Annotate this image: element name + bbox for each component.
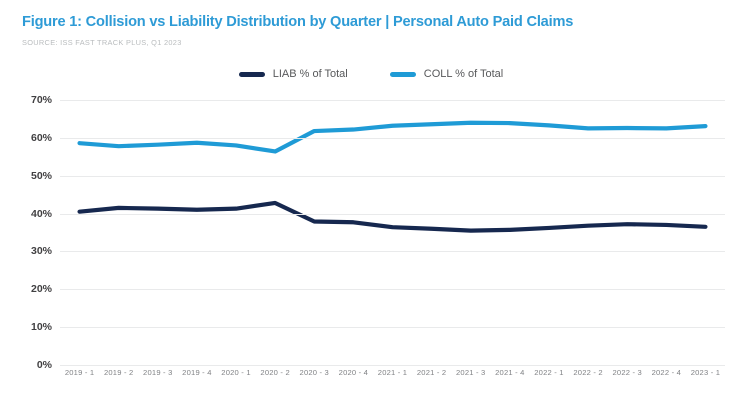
x-axis-tick-label: 2022 - 2 bbox=[573, 368, 602, 377]
y-axis-tick-label: 60% bbox=[31, 132, 52, 144]
x-axis-tick-label: 2021 - 3 bbox=[456, 368, 485, 377]
legend-label-liab: LIAB % of Total bbox=[273, 68, 348, 80]
gridline bbox=[60, 289, 725, 290]
legend-item-coll[interactable]: COLL % of Total bbox=[390, 68, 504, 80]
x-axis-tick-label: 2022 - 1 bbox=[534, 368, 563, 377]
legend-label-coll: COLL % of Total bbox=[424, 68, 504, 80]
chart-source-note: SOURCE: ISS FAST TRACK PLUS, Q1 2023 bbox=[22, 38, 182, 47]
x-axis-tick-label: 2019 - 3 bbox=[143, 368, 172, 377]
y-axis-tick-label: 50% bbox=[31, 170, 52, 182]
x-axis-tick-label: 2019 - 1 bbox=[65, 368, 94, 377]
x-axis-tick-label: 2021 - 1 bbox=[378, 368, 407, 377]
gridline bbox=[60, 327, 725, 328]
x-axis-tick-label: 2020 - 4 bbox=[339, 368, 368, 377]
x-axis-tick-label: 2019 - 2 bbox=[104, 368, 133, 377]
gridline bbox=[60, 176, 725, 177]
chart-legend: LIAB % of Total COLL % of Total bbox=[0, 68, 742, 80]
y-axis-tick-label: 40% bbox=[31, 208, 52, 220]
chart-lines bbox=[60, 100, 725, 365]
gridline bbox=[60, 100, 725, 101]
gridline bbox=[60, 251, 725, 252]
x-axis-tick-label: 2023 - 1 bbox=[691, 368, 720, 377]
legend-item-liab[interactable]: LIAB % of Total bbox=[239, 68, 348, 80]
legend-swatch-coll bbox=[390, 72, 416, 77]
chart-title: Figure 1: Collision vs Liability Distrib… bbox=[22, 14, 573, 30]
y-axis-tick-label: 70% bbox=[31, 94, 52, 106]
x-axis-tick-label: 2022 - 3 bbox=[612, 368, 641, 377]
x-axis-tick-label: 2019 - 4 bbox=[182, 368, 211, 377]
x-axis-tick-label: 2020 - 1 bbox=[221, 368, 250, 377]
plot-area bbox=[60, 100, 725, 365]
x-axis-tick-label: 2021 - 2 bbox=[417, 368, 446, 377]
gridline bbox=[60, 365, 725, 366]
y-axis-tick-label: 0% bbox=[37, 359, 52, 371]
x-axis-tick-label: 2020 - 2 bbox=[260, 368, 289, 377]
legend-swatch-liab bbox=[239, 72, 265, 77]
y-axis-tick-label: 10% bbox=[31, 321, 52, 333]
gridline bbox=[60, 138, 725, 139]
y-axis-tick-label: 20% bbox=[31, 283, 52, 295]
chart-figure: Figure 1: Collision vs Liability Distrib… bbox=[0, 0, 742, 407]
gridline bbox=[60, 214, 725, 215]
x-axis-tick-label: 2022 - 4 bbox=[652, 368, 681, 377]
series-line-liab bbox=[80, 203, 706, 231]
x-axis-tick-label: 2020 - 3 bbox=[300, 368, 329, 377]
y-axis: 0%10%20%30%40%50%60%70% bbox=[0, 100, 60, 365]
x-axis-tick-label: 2021 - 4 bbox=[495, 368, 524, 377]
y-axis-tick-label: 30% bbox=[31, 245, 52, 257]
x-axis: 2019 - 12019 - 22019 - 32019 - 42020 - 1… bbox=[60, 368, 725, 388]
